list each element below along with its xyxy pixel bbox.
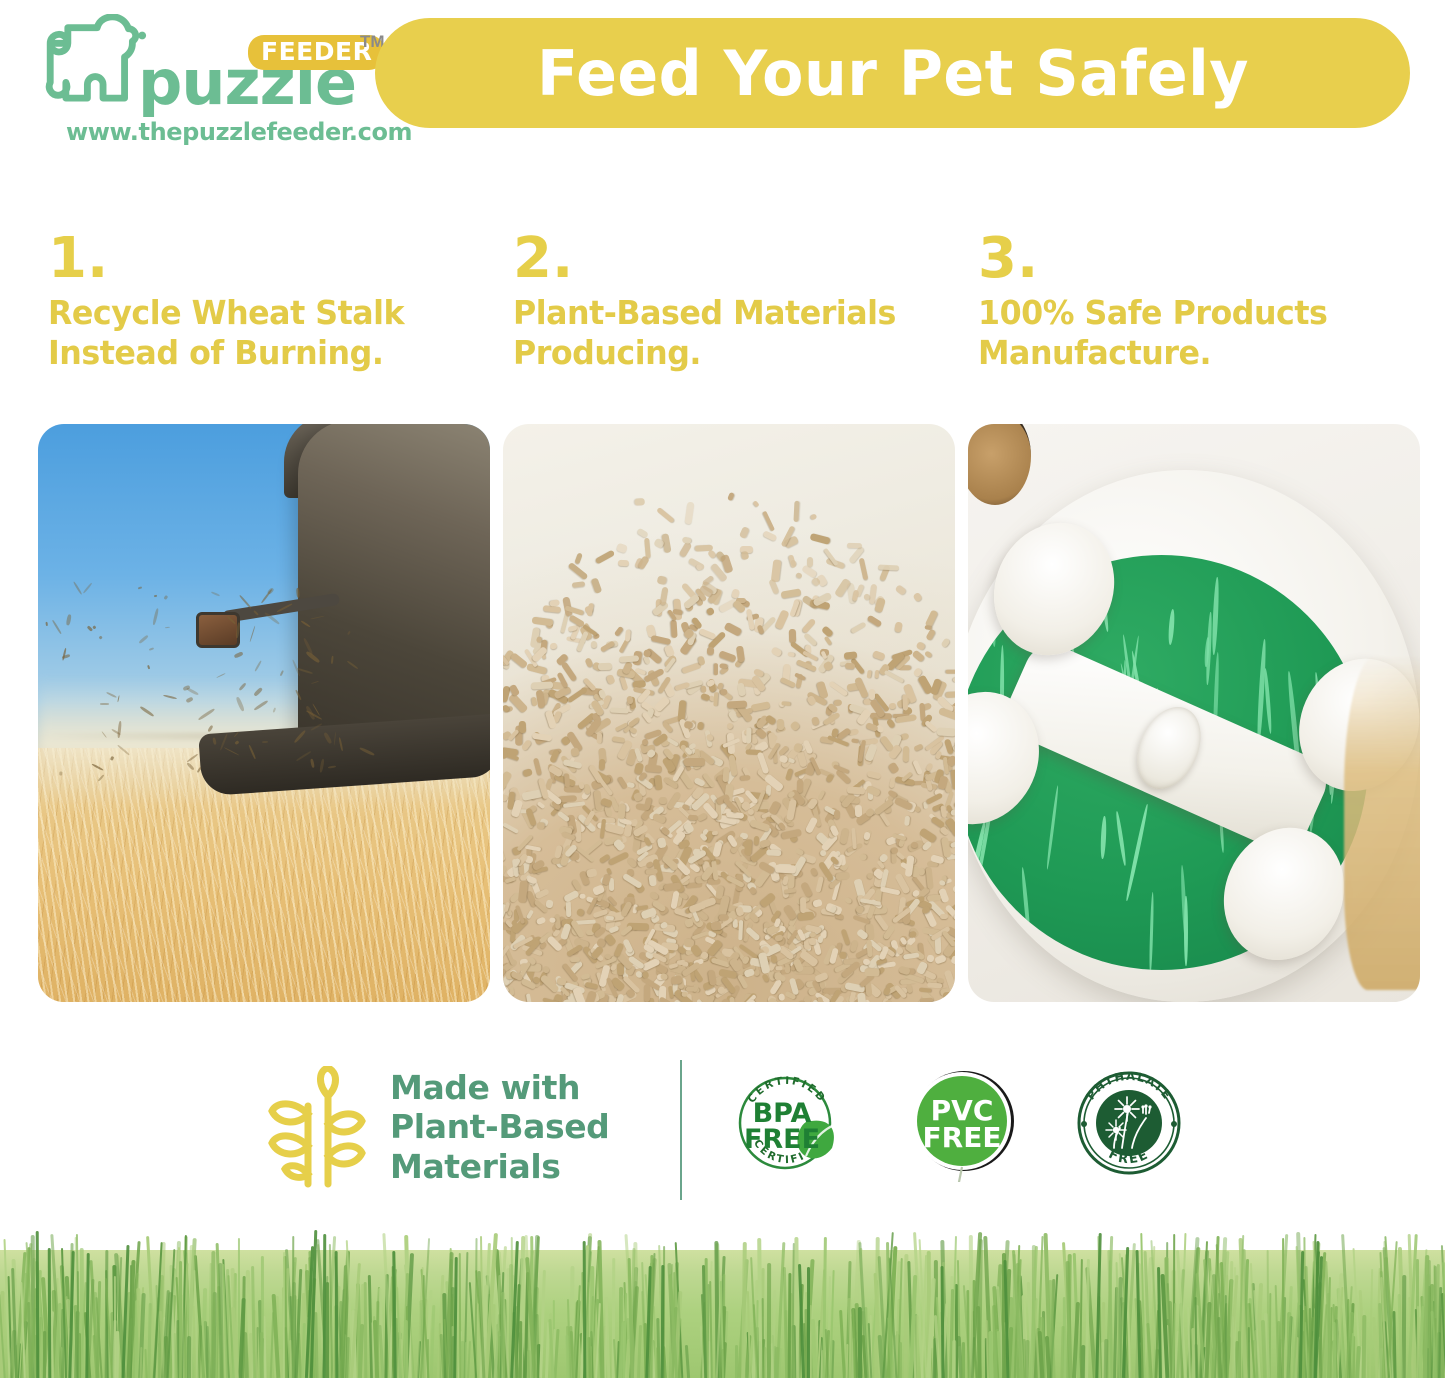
- plant-badge-line-2: Plant-Based: [390, 1107, 609, 1147]
- bpa-line-2: FREE: [744, 1124, 820, 1155]
- step-images-row: [0, 424, 1445, 1004]
- step-1: 1. Recycle Wheat Stalk Instead of Burnin…: [48, 232, 518, 373]
- pvc-free-badge: PVC FREE: [905, 1064, 1023, 1182]
- step-2-image: [503, 424, 955, 1002]
- step-title: 100% Safe Products Manufacture.: [978, 293, 1429, 373]
- step-3-image: [968, 424, 1420, 1002]
- phthalate-free-badge: PHTHALATE FREE: [1070, 1064, 1188, 1182]
- step-title: Recycle Wheat Stalk Instead of Burning.: [48, 293, 499, 373]
- harvester-mirror: [196, 612, 240, 648]
- steps-heading-row: 1. Recycle Wheat Stalk Instead of Burnin…: [0, 232, 1445, 418]
- vertical-divider: [680, 1060, 682, 1200]
- harvester-body: [298, 424, 490, 750]
- grass-footer: [0, 1228, 1445, 1378]
- plant-based-label: Made with Plant-Based Materials: [390, 1068, 609, 1187]
- page-header: puzzle FEEDER TM www.thepuzzlefeeder.com…: [0, 0, 1445, 150]
- plant-based-badge: Made with Plant-Based Materials: [262, 1066, 609, 1188]
- step-3: 3. 100% Safe Products Manufacture.: [978, 232, 1445, 373]
- step-number: 1.: [48, 232, 518, 285]
- brand-website-url: www.thepuzzlefeeder.com: [66, 118, 412, 146]
- step-number: 3.: [978, 232, 1445, 285]
- title-banner: Feed Your Pet Safely: [375, 18, 1410, 128]
- step-title: Plant-Based Materials Producing.: [513, 293, 964, 373]
- brand-logo[interactable]: puzzle FEEDER TM www.thepuzzlefeeder.com: [30, 12, 360, 137]
- plant-badge-line-1: Made with: [390, 1068, 609, 1108]
- step-number: 2.: [513, 232, 983, 285]
- bpa-free-badge: CERTIFIED CERTIFIED BPA FREE: [728, 1064, 846, 1182]
- step-1-image: [38, 424, 490, 1002]
- wheat-stalk-decoration: [1344, 655, 1420, 990]
- wheat-plant-icon: [262, 1066, 368, 1188]
- certification-row: Made with Plant-Based Materials CERTIFIE…: [0, 1048, 1445, 1228]
- pvc-line-2: FREE: [923, 1121, 1002, 1154]
- step-2: 2. Plant-Based Materials Producing.: [513, 232, 983, 373]
- page-title: Feed Your Pet Safely: [537, 37, 1249, 110]
- plant-badge-line-3: Materials: [390, 1147, 609, 1187]
